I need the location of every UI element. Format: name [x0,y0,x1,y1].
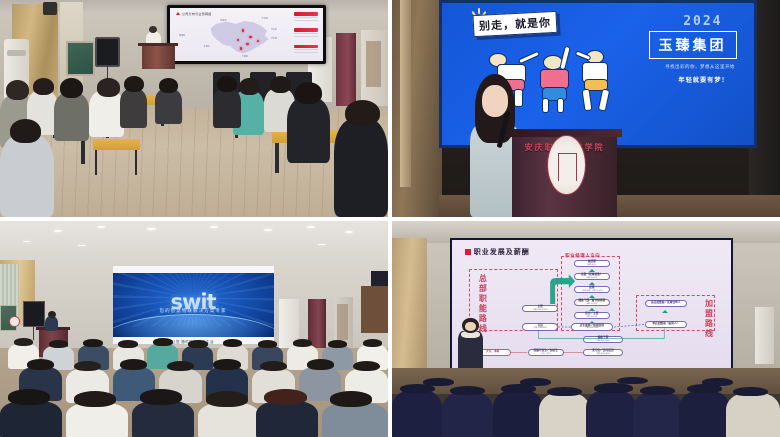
flow-connectors [452,240,731,370]
attendee [586,390,636,437]
attendee-head-back [520,378,551,386]
student-desk [93,139,140,150]
slide-tagline-1: 寻找出彩的你，梦想从这里开始 [665,64,735,70]
attendee-head [8,389,51,404]
slide-side-text [294,49,318,55]
led-screen: 职业发展及薪酬 总部职能路线 职业经理人方向 加盟路线 总经理 年薪 80万+ [450,238,733,372]
auditorium-stage-scene: 别走，就是你 2024 玉臻集团 寻找出彩的你，梦想从这里开始 年轻就要有梦！ [392,0,780,217]
slide-career-development: 职业发展及薪酬 总部职能路线 职业经理人方向 加盟路线 总经理 年薪 80万+ [452,240,731,370]
classroom-door-secondary [361,30,388,106]
speaker-face [465,322,476,331]
map-region-label: 华北区 [262,17,268,20]
attendee-head [74,361,101,371]
attendee-head [206,391,249,406]
led-screen: swit 您的智慧物联解决方案专家 让您 随时随地 智享生活 [113,266,274,344]
attendee-head [328,340,347,348]
attendee-head [640,386,675,395]
wall-corner-wood [361,286,388,334]
slide-side-block [294,28,318,32]
student-figure [287,98,330,163]
panel-top-left-classroom: 公司分布与业务网络 西北区 华北区 华东区 华中区 华南区 西南区 东北区 [0,0,388,217]
attendee-head [264,389,307,404]
attendee-head [188,340,207,348]
map-marker [249,36,251,38]
attendee-head [594,383,633,393]
slide-side-block [294,12,318,16]
slide-company-name: 玉臻集团 [649,31,737,59]
panel-top-right-stage: 别走，就是你 2024 玉臻集团 寻找出彩的你，梦想从这里开始 年轻就要有梦！ [388,0,780,217]
student-head [6,80,29,100]
attendee-head [213,359,240,369]
slide-side-block [294,45,318,49]
map-region-label: 西北区 [220,19,226,22]
attendee-head-back [423,378,454,386]
air-conditioner [755,307,774,363]
student-figure-front [334,119,388,217]
attendee-head-back [617,377,648,385]
presenter-figure [45,316,58,331]
slide-side-text [294,17,318,23]
attendee-front [132,401,194,437]
wood-wall-panel-left [392,238,427,372]
map-region-label: 西南区 [179,34,185,37]
projection-screen: 公司分布与业务网络 西北区 华北区 华东区 华中区 华南区 西南区 东北区 [167,5,326,64]
attendee-head [118,340,137,348]
student-figure [155,89,182,124]
attendee-front [198,403,260,437]
green-chalkboard [66,41,95,76]
student-head [239,78,260,95]
china-map-shape [207,18,274,56]
attendee [442,392,492,437]
attendee-head [140,389,183,404]
student-figure [213,89,240,128]
attendee-head [258,340,277,348]
lecture-hall-scene: swit 您的智慧物联解决方案专家 让您 随时随地 智享生活 [0,221,388,437]
attendee-head [733,387,768,396]
attendee [493,390,543,437]
attendee-head [330,391,373,406]
attendee-front [66,403,128,437]
student-figure-front [0,135,54,217]
student-head [33,78,54,95]
dancer-figure-right [570,50,622,111]
slide-top-band [113,266,274,273]
attendee [679,391,729,437]
map-region-label: 华东区 [271,28,277,31]
audience-silhouettes [392,377,780,437]
wall-monitor [95,37,120,67]
student-head [124,76,143,92]
attendee-head [14,338,33,346]
wall-monitor-right [371,271,388,286]
attendee-head [49,340,68,348]
headline-text: 别走，就是你 [478,16,551,33]
attendee-head [687,384,722,393]
attendee [392,390,442,437]
classroom-scene: 公司分布与业务网络 西北区 华北区 华东区 华中区 华南区 西南区 东北区 [0,0,388,217]
attendee-head [74,391,117,406]
student-head [159,78,178,93]
attendee-head [363,339,382,347]
student-head [345,100,380,126]
college-crest-icon [547,135,586,196]
attendee [539,393,589,437]
attendee-head [293,339,312,347]
slide-headline: 别走，就是你 [472,11,557,37]
attendee-head [260,361,287,371]
attendee [633,392,683,437]
audience-seating [0,342,388,437]
slide-title-row: 公司分布与业务网络 [176,11,212,16]
slide-title: 公司分布与业务网络 [182,11,212,16]
student-figure [120,89,147,128]
attendee-head [153,338,172,346]
attendee-head [83,339,102,347]
attendee-head [223,339,242,347]
classroom-door [336,33,356,107]
slide-side-text [294,33,318,39]
student-head [217,76,236,92]
speaker-face [482,85,508,117]
student-head [97,78,120,96]
attendee-head [167,361,194,371]
attendee-head [307,359,334,369]
attendee-head [353,361,380,371]
student-head [295,82,322,104]
attendee-head [120,359,147,369]
map-marker [246,43,248,45]
map-region-label: 东北区 [204,45,210,48]
wood-accent-strip [400,0,412,187]
slide-year: 2024 [683,14,722,29]
student-head [60,78,83,98]
lectern [142,44,175,69]
attendee-head-back [702,378,733,386]
slide-swit-brand: swit 您的智慧物联解决方案专家 [113,273,274,337]
attendee-head [27,359,54,369]
student-head [270,76,291,93]
attendee-front [0,401,62,437]
hall-ceiling [0,221,388,266]
slide-company-map: 公司分布与业务网络 西北区 华北区 华东区 华中区 华南区 西南区 东北区 [170,8,323,61]
student-head [10,119,41,143]
speaker-figure [458,318,483,374]
photo-collage: 公司分布与业务网络 西北区 华北区 华东区 华中区 华南区 西南区 东北区 [0,0,780,437]
map-region-label: 华南区 [242,55,248,58]
attendee-front [256,401,318,437]
triangle-marker-icon [176,12,180,15]
map-marker [242,29,244,31]
panel-bottom-right-career-slide: 职业发展及薪酬 总部职能路线 职业经理人方向 加盟路线 总经理 年薪 80万+ [388,217,780,437]
student-figure [54,93,89,141]
attendee-front [322,403,388,437]
attendee-head [450,386,485,395]
panel-bottom-left-lecture-hall: swit 您的智慧物联解决方案专家 让您 随时随地 智享生活 [0,217,388,437]
wall-monitor-left [23,301,44,327]
student-figure [89,91,124,137]
attendee [726,393,780,437]
map-region-label: 华中区 [271,37,277,40]
lectern-crest-icon [9,316,19,327]
wall-speaker-icon [43,2,57,15]
attendee-head [547,387,582,396]
slide-subtitle: 您的智慧物联解决方案专家 [113,308,274,314]
career-talk-scene: 职业发展及薪酬 总部职能路线 职业经理人方向 加盟路线 总经理 年薪 80万+ [392,221,780,437]
slide-tagline-2: 年轻就要有梦！ [678,75,728,84]
